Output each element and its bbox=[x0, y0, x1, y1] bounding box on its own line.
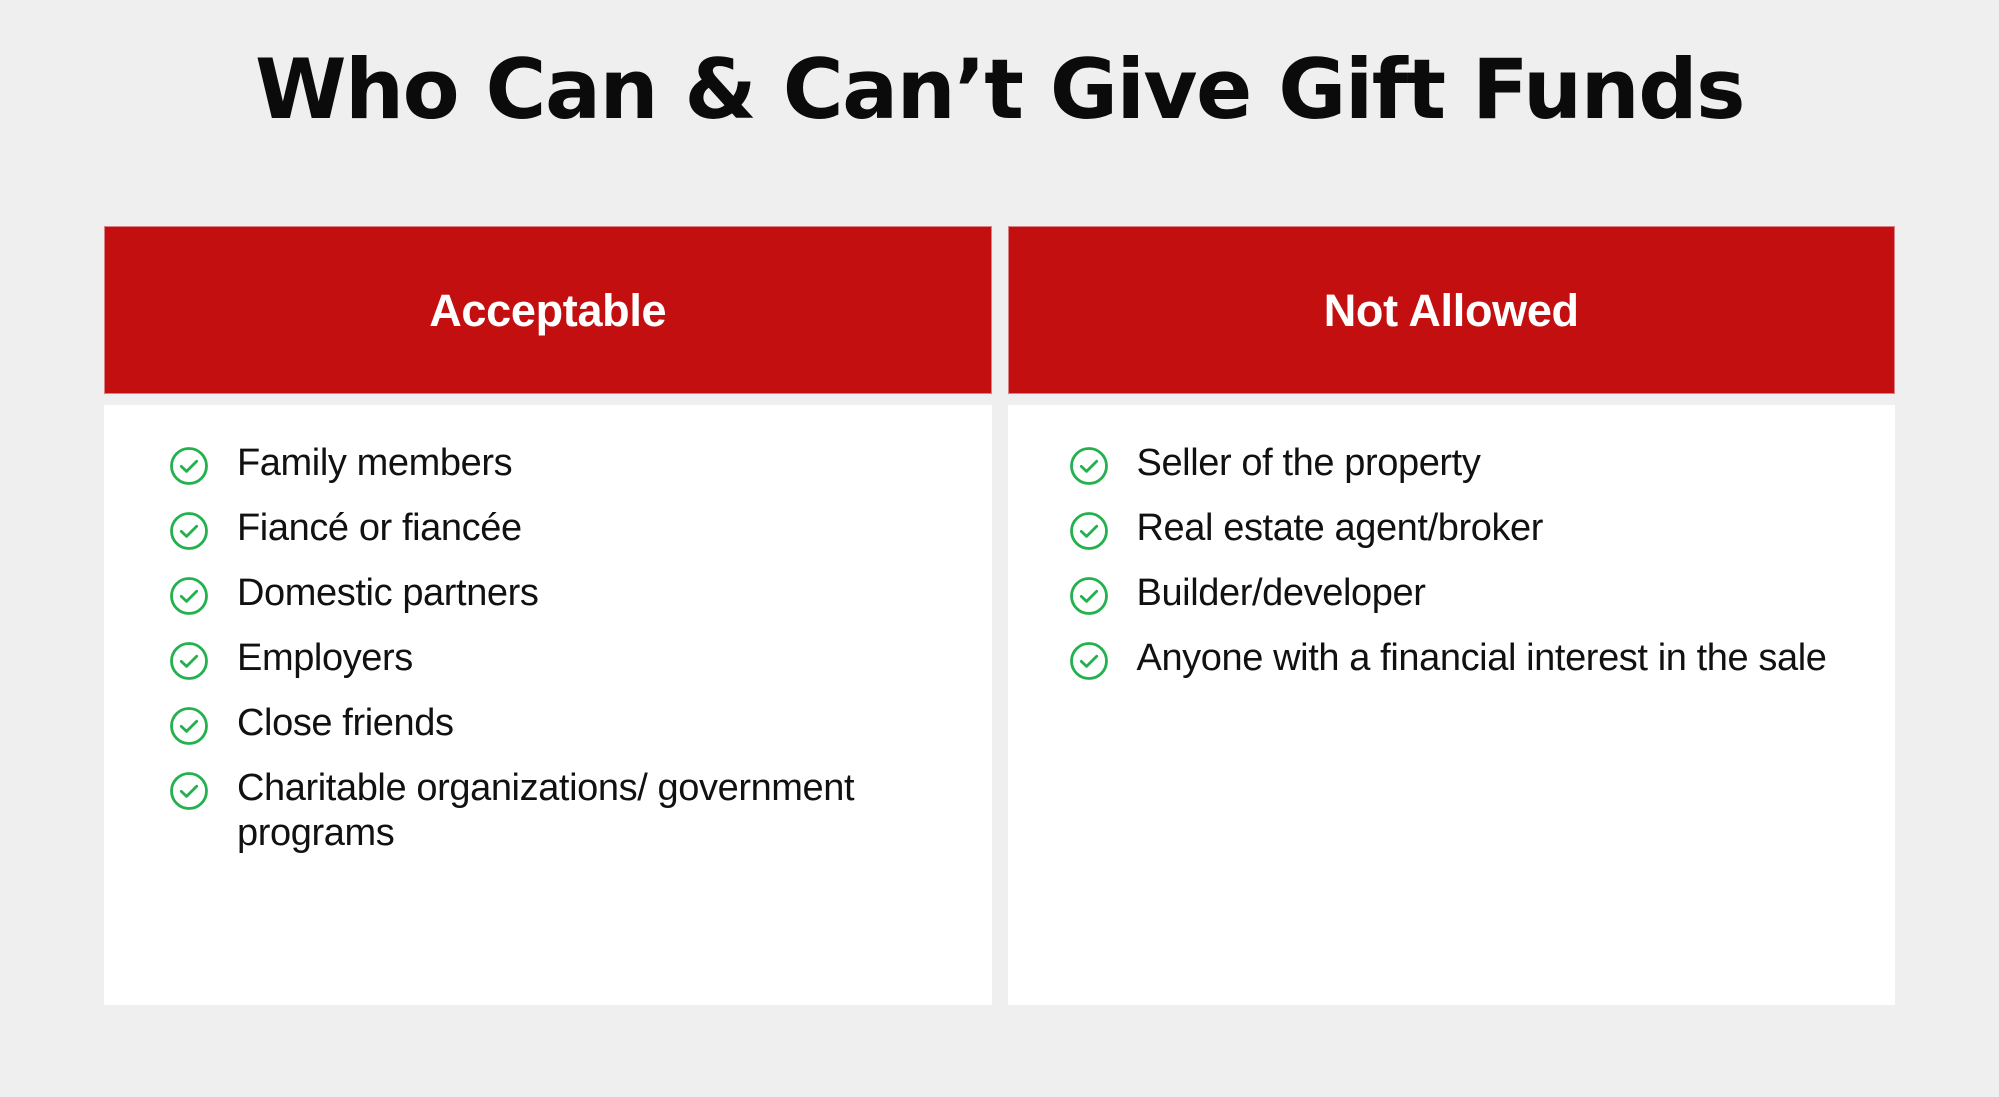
column-body-acceptable: Family members Fiancé or fiancée bbox=[104, 405, 992, 1005]
list-item-label: Domestic partners bbox=[237, 571, 539, 616]
check-circle-icon bbox=[168, 640, 210, 682]
list-item: Anyone with a financial interest in the … bbox=[1068, 636, 1862, 682]
list-item: Domestic partners bbox=[168, 571, 958, 617]
check-circle-icon bbox=[1068, 510, 1110, 552]
list-item-label: Real estate agent/broker bbox=[1137, 506, 1544, 551]
list-item-label: Family members bbox=[237, 441, 512, 486]
list-item: Builder/developer bbox=[1068, 571, 1862, 617]
page-title: Who Can & Can’t Give Gift Funds bbox=[0, 48, 1999, 131]
check-circle-icon bbox=[168, 445, 210, 487]
list-item-label: Builder/developer bbox=[1137, 571, 1426, 616]
list-item-label: Charitable organizations/ government pro… bbox=[237, 766, 927, 856]
column-body-not-allowed: Seller of the property Real estate agent… bbox=[1008, 405, 1896, 1005]
list-item: Family members bbox=[168, 441, 958, 487]
column-header-not-allowed: Not Allowed bbox=[1008, 226, 1896, 394]
check-circle-icon bbox=[168, 705, 210, 747]
comparison-columns: Acceptable Family members bbox=[104, 226, 1895, 1005]
list-item-label: Close friends bbox=[237, 701, 454, 746]
list-item-label: Seller of the property bbox=[1137, 441, 1481, 486]
list-item-label: Employers bbox=[237, 636, 413, 681]
check-circle-icon bbox=[1068, 640, 1110, 682]
list-item-label: Fiancé or fiancée bbox=[237, 506, 522, 551]
check-circle-icon bbox=[168, 575, 210, 617]
column-acceptable: Acceptable Family members bbox=[104, 226, 992, 1005]
check-circle-icon bbox=[1068, 575, 1110, 617]
list-item: Seller of the property bbox=[1068, 441, 1862, 487]
check-circle-icon bbox=[168, 510, 210, 552]
list-item: Close friends bbox=[168, 701, 958, 747]
list-item: Real estate agent/broker bbox=[1068, 506, 1862, 552]
column-header-acceptable: Acceptable bbox=[104, 226, 992, 394]
column-header-label: Not Allowed bbox=[1324, 288, 1579, 333]
column-not-allowed: Not Allowed Seller of the property bbox=[1008, 226, 1896, 1005]
acceptable-list: Family members Fiancé or fiancée bbox=[168, 441, 958, 875]
check-circle-icon bbox=[1068, 445, 1110, 487]
not-allowed-list: Seller of the property Real estate agent… bbox=[1068, 441, 1862, 701]
check-circle-icon bbox=[168, 770, 210, 812]
column-header-label: Acceptable bbox=[429, 288, 666, 333]
list-item-label: Anyone with a financial interest in the … bbox=[1137, 636, 1827, 681]
list-item: Employers bbox=[168, 636, 958, 682]
list-item: Fiancé or fiancée bbox=[168, 506, 958, 552]
infographic-root: Who Can & Can’t Give Gift Funds Acceptab… bbox=[0, 0, 1999, 1097]
list-item: Charitable organizations/ government pro… bbox=[168, 766, 958, 856]
